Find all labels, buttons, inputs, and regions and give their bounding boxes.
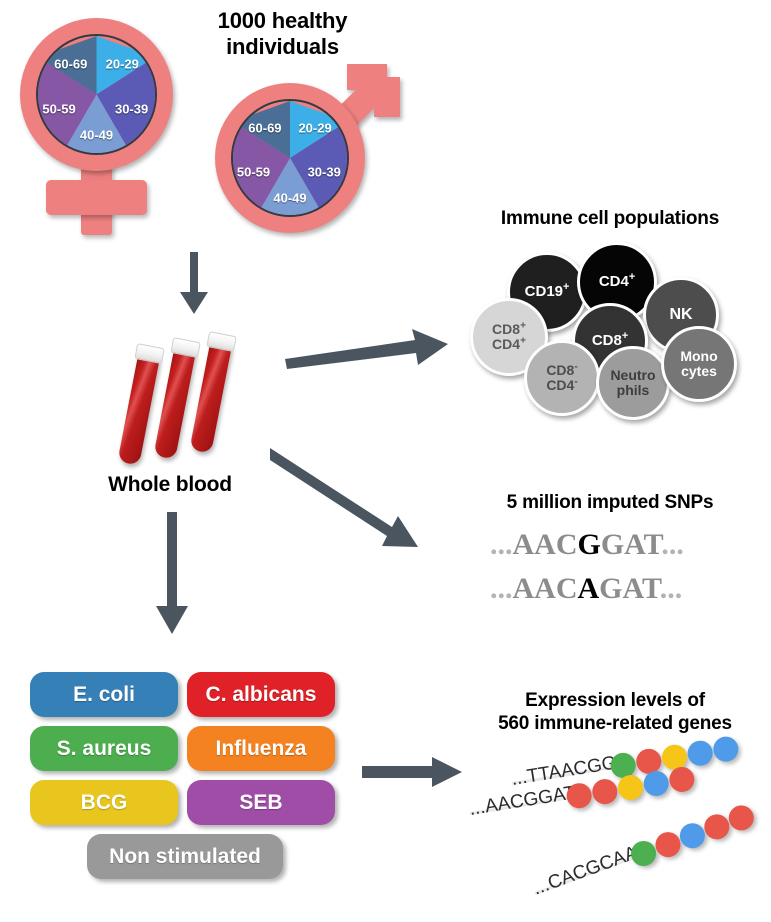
cell-neutrophils: Neutrophils [596,346,670,420]
cell-label: CD8+CD4+ [492,322,526,351]
cell-monocytes: Monocytes [661,326,737,402]
stimulus-bcg[interactable]: BCG [30,780,178,825]
cell-label: CD19+ [525,284,570,300]
expression-bead [616,773,645,802]
pie-label-50-59: 50-59 [237,164,270,179]
pie-label-30-39: 30-39 [308,164,341,179]
snp-suffix: ... [660,572,683,605]
stimulus-seb[interactable]: SEB [187,780,335,825]
pie-label-40-49: 40-49 [273,190,306,205]
venus-crossbar-icon [46,180,147,215]
snp-variant: G [578,528,601,561]
arrow-stimuli-to-expression [362,757,472,791]
expression-bead [591,777,620,806]
female-age-pie: 20-29 30-39 40-49 50-59 60-69 [36,34,157,155]
stimulus-non-stimulated[interactable]: Non stimulated [87,834,283,879]
cell-label: CD8-CD4- [546,363,577,392]
female-symbol: 20-29 30-39 40-49 50-59 60-69 [10,12,200,232]
expression-bead [642,769,671,798]
arrow-blood-to-snps [270,448,460,553]
male-age-pie: 20-29 30-39 40-49 50-59 60-69 [231,99,349,217]
snp-sequence-row: ...AACAGAT... [490,572,682,606]
snp-suffix: ... [661,528,684,561]
snp-right: GAT [601,528,662,561]
snp-prefix: ... [490,528,513,561]
stimulus-s-aureus[interactable]: S. aureus [30,726,178,771]
whole-blood-label: Whole blood [70,472,270,497]
cell-label: Neutrophils [610,368,655,397]
cell-label: NK [669,307,692,324]
pie-label-20-29: 20-29 [106,57,139,72]
arrow-blood-to-stimuli [155,512,199,640]
expression-bead [668,765,697,794]
pie-label-20-29: 20-29 [298,121,331,136]
snps-title: 5 million imputed SNPs [460,492,760,515]
snp-left: AAC [513,528,578,561]
snp-right: GAT [599,572,660,605]
cell-label: Monocytes [680,349,717,378]
pie-label-30-39: 30-39 [115,101,148,116]
expression-bead [725,802,757,834]
strand-sequence: ...CACGCAA [530,842,641,900]
stimulus-c-albicans[interactable]: C. albicans [187,672,335,717]
snp-prefix: ... [490,572,513,605]
pie-label-50-59: 50-59 [42,101,75,116]
cell-label: CD4+ [599,274,635,290]
male-symbol: 20-29 30-39 40-49 50-59 60-69 [205,45,420,250]
cell-cd8-cd4-double-negative: CD8-CD4- [524,340,600,416]
snp-sequence-row: ...AACGGAT... [490,528,684,562]
pie-label-40-49: 40-49 [80,128,113,143]
pie-label-60-69: 60-69 [248,121,281,136]
stimulus-influenza[interactable]: Influenza [187,726,335,771]
immune-cell-cluster: CD19+ CD4+ NK CD8+CD4+ CD8+ CD8-CD4- Neu… [465,240,755,420]
arrow-cohort-to-blood [172,252,216,320]
snp-sequences: ...AACGGAT... ...AACAGAT... [490,528,740,623]
pie-label-60-69: 60-69 [54,57,87,72]
whole-blood-tubes [110,330,240,465]
expression-title: Expression levels of 560 immune-related … [460,690,770,736]
snp-variant: A [578,572,600,605]
expression-strand: ...CACGCAA [531,795,771,905]
immune-title: Immune cell populations [455,208,765,231]
snp-left: AAC [513,572,578,605]
stimuli-panel: E. coli C. albicans S. aureus Influenza … [30,672,340,890]
figure-canvas: 1000 healthy individuals 20-29 30-39 40-… [0,0,771,922]
stimulus-e-coli[interactable]: E. coli [30,672,178,717]
arrow-blood-to-immune [285,320,465,370]
